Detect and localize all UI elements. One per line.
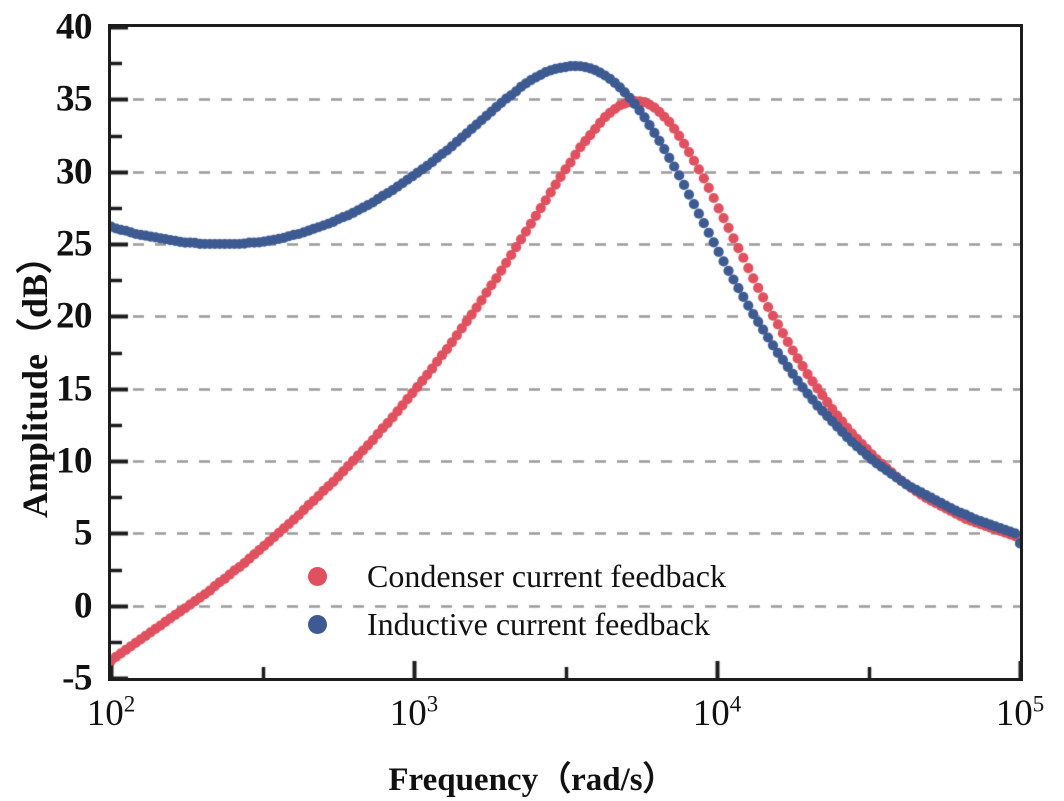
y-tick-label: 20 — [56, 295, 92, 338]
x-tick-label: 105 — [996, 692, 1044, 735]
y-tick-label: 10 — [56, 440, 92, 483]
x-tick-label: 102 — [87, 692, 135, 735]
y-tick-label: 40 — [56, 6, 92, 49]
y-tick-label: 15 — [56, 367, 92, 410]
x-tick-label: 103 — [390, 692, 438, 735]
y-tick-label: 5 — [74, 512, 92, 555]
x-axis-title: Frequency（rad/s） — [0, 752, 1064, 800]
x-axis-tick-labels: 102103104105 — [0, 692, 1064, 752]
legend-marker-inductive-icon — [308, 615, 327, 634]
legend-label-inductive: Inductive current feedback — [367, 606, 710, 643]
y-tick-label: 35 — [56, 78, 92, 121]
y-axis-title: Amplitude（dB） — [6, 88, 58, 668]
legend-item-inductive: Inductive current feedback — [308, 600, 828, 648]
y-tick-label: 30 — [56, 150, 92, 193]
y-tick-label: 0 — [74, 584, 92, 627]
x-tick-label: 104 — [693, 692, 741, 735]
legend-marker-condenser-icon — [308, 567, 327, 586]
y-tick-label: 25 — [56, 223, 92, 266]
legend-label-condenser: Condenser current feedback — [367, 558, 726, 595]
bode-magnitude-chart: -50510152025303540 Amplitude（dB） 1021031… — [0, 0, 1064, 801]
legend-item-condenser: Condenser current feedback — [308, 552, 828, 600]
legend: Condenser current feedback Inductive cur… — [308, 552, 828, 648]
